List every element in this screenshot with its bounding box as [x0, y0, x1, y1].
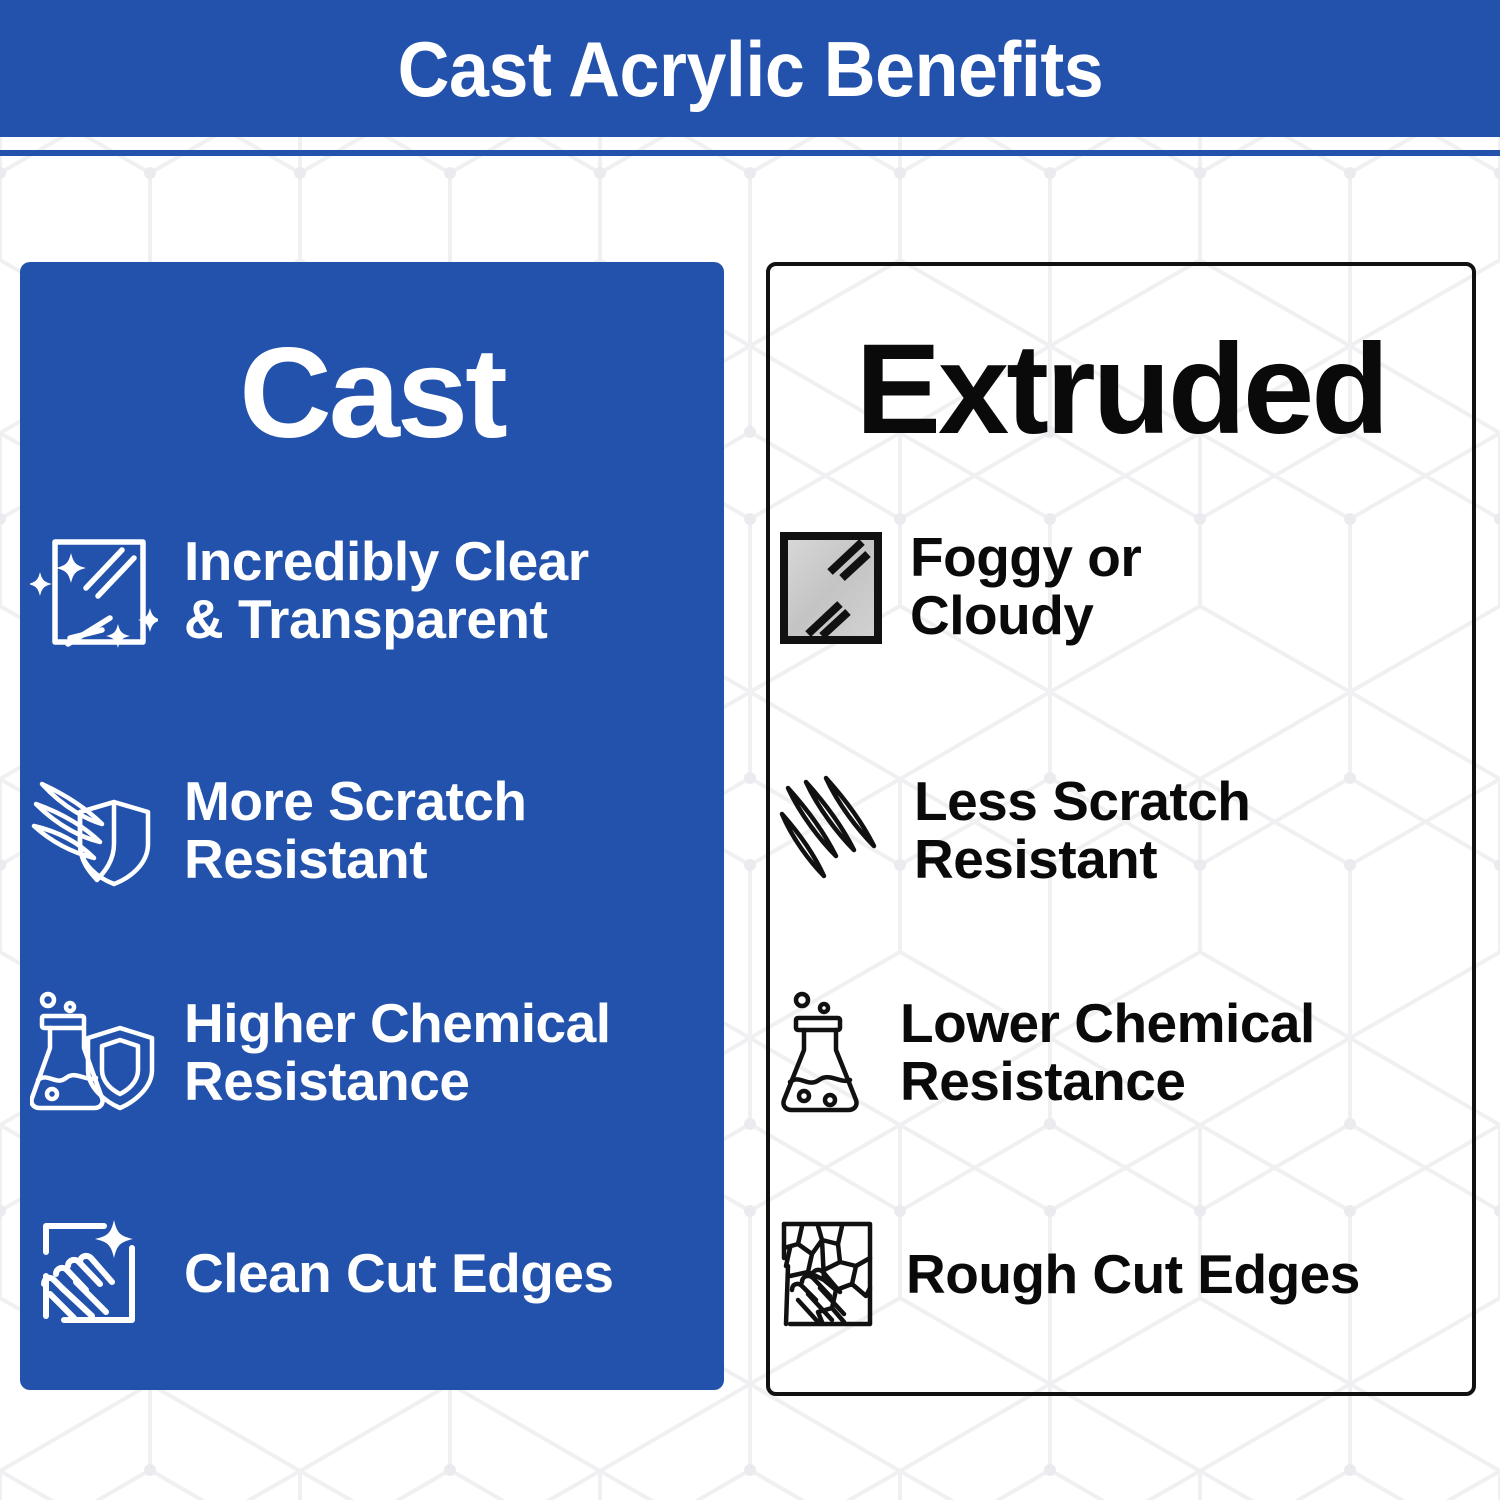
feature-label: Lower Chemical Resistance: [900, 994, 1315, 1111]
header-band: Cast Acrylic Benefits: [0, 0, 1500, 137]
feature-label: Less Scratch Resistant: [914, 772, 1250, 889]
feature-label: Higher Chemical Resistance: [184, 994, 611, 1111]
feature-label: Rough Cut Edges: [906, 1245, 1360, 1303]
feature-row: Rough Cut Edges: [778, 1218, 1458, 1330]
clear-glass-sparkle-icon: [30, 526, 158, 654]
feature-row: More Scratch Resistant: [30, 770, 690, 890]
scratch-shield-icon: [30, 770, 158, 890]
scratch-marks-icon: [778, 770, 888, 890]
clean-cut-edge-icon: [30, 1218, 158, 1328]
flask-shield-icon: [30, 990, 158, 1114]
feature-label: More Scratch Resistant: [184, 772, 526, 889]
flask-icon: [778, 990, 874, 1114]
page-title: Cast Acrylic Benefits: [397, 30, 1103, 108]
feature-row: Foggy or Cloudy: [778, 526, 1458, 646]
feature-label: Incredibly Clear & Transparent: [184, 532, 589, 649]
feature-row: Less Scratch Resistant: [778, 770, 1458, 890]
rough-cut-edge-icon: [778, 1218, 880, 1330]
header-divider-rule: [0, 150, 1500, 156]
feature-row: Incredibly Clear & Transparent: [30, 526, 690, 654]
foggy-glass-icon: [778, 526, 884, 646]
feature-row: Lower Chemical Resistance: [778, 990, 1458, 1114]
feature-label: Clean Cut Edges: [184, 1244, 614, 1302]
feature-row: Clean Cut Edges: [30, 1218, 690, 1328]
panel-extruded-heading: Extruded: [770, 326, 1472, 454]
feature-row: Higher Chemical Resistance: [30, 990, 690, 1114]
feature-label: Foggy or Cloudy: [910, 528, 1141, 645]
panel-cast-heading: Cast: [20, 330, 724, 458]
